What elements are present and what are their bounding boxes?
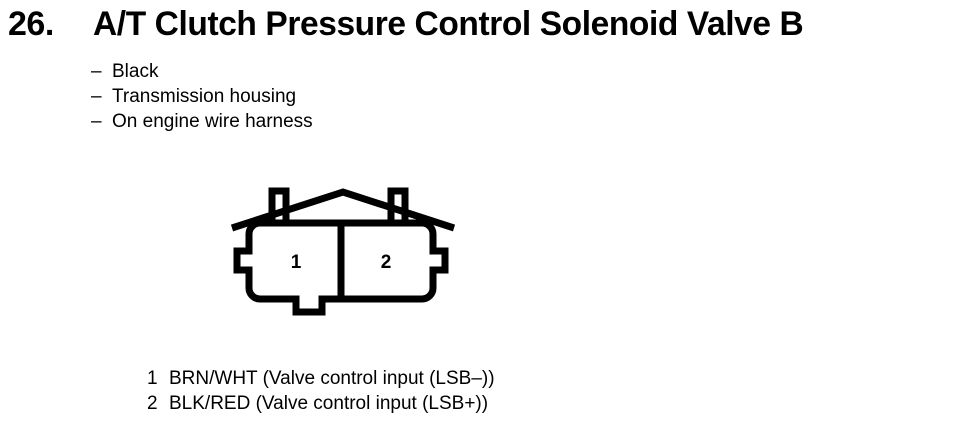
- connector-outline-svg: 1 2: [228, 182, 478, 327]
- pin-legend-description: BLK/RED (Valve control input (LSB+)): [169, 393, 488, 414]
- page-header: 26. A/T Clutch Pressure Control Solenoid…: [0, 0, 960, 52]
- attribute-label: Transmission housing: [112, 86, 296, 107]
- connector-diagram: 1 2: [228, 182, 478, 327]
- pin-legend-row: 1BRN/WHT (Valve control input (LSB–)): [147, 366, 847, 391]
- attribute-label: On engine wire harness: [112, 111, 313, 132]
- page-title: A/T Clutch Pressure Control Solenoid Val…: [93, 4, 803, 44]
- dash-bullet-icon: –: [91, 109, 112, 134]
- dash-bullet-icon: –: [91, 59, 112, 84]
- connector-tab-left: [272, 191, 286, 224]
- pin-legend-number: 2: [147, 391, 169, 416]
- attribute-item-harness: –On engine wire harness: [91, 109, 591, 134]
- attribute-item-location: –Transmission housing: [91, 84, 591, 109]
- pin-legend-description: BRN/WHT (Valve control input (LSB–)): [169, 368, 495, 389]
- section-number: 26.: [8, 4, 54, 44]
- dash-bullet-icon: –: [91, 84, 112, 109]
- attribute-item-color: –Black: [91, 59, 591, 84]
- pin-legend-row: 2BLK/RED (Valve control input (LSB+)): [147, 391, 847, 416]
- attribute-label: Black: [112, 61, 158, 82]
- pin-legend: 1BRN/WHT (Valve control input (LSB–)) 2B…: [147, 366, 847, 416]
- pin-legend-number: 1: [147, 366, 169, 391]
- connector-pin-label-2: 2: [381, 252, 392, 273]
- attribute-list: –Black –Transmission housing –On engine …: [91, 59, 591, 134]
- connector-pin-label-1: 1: [291, 252, 302, 273]
